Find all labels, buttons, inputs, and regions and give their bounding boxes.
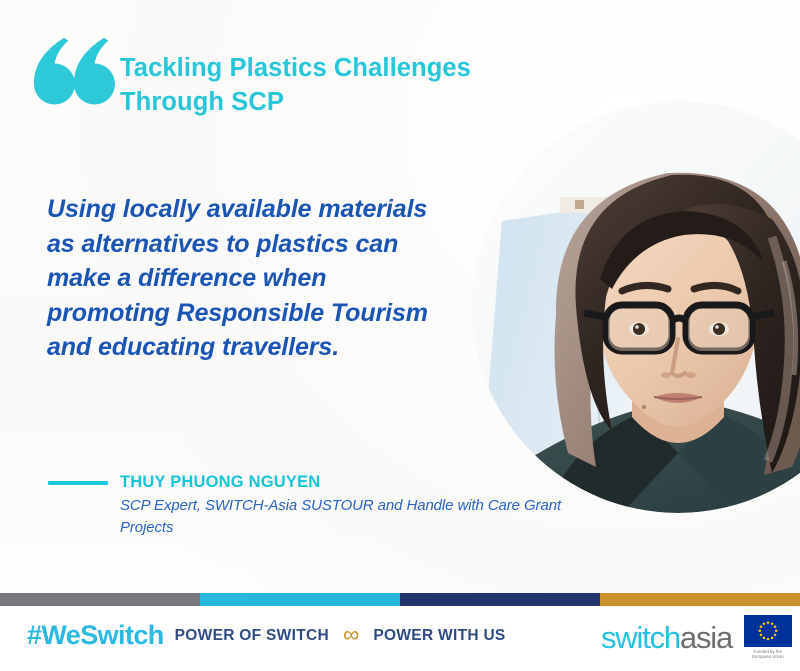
eu-caption-line-2: European Union xyxy=(744,654,792,659)
headline-line-1: Tackling Plastics Challenges xyxy=(120,54,471,82)
color-bar-segment-gray xyxy=(0,593,200,606)
eu-funding-caption: Funded by the European Union xyxy=(744,649,792,660)
footer-logos: switchasia xyxy=(601,615,792,660)
tagline-power-of-switch: POWER OF SWITCH xyxy=(175,627,329,645)
footer-campaign: #WeSwitch POWER OF SWITCH ∞ POWER WITH U… xyxy=(27,620,506,651)
headline-line-2: Through SCP xyxy=(120,86,540,120)
switchasia-logo: switchasia xyxy=(601,622,732,653)
avatar xyxy=(472,101,800,513)
switchasia-logo-switch: switch xyxy=(601,620,680,655)
page-title: Tackling Plastics Challenges Through SCP xyxy=(120,52,540,120)
color-bar xyxy=(0,593,800,606)
attribution-role: SCP Expert, SWITCH-Asia SUSTOUR and Hand… xyxy=(120,495,570,538)
footer: #WeSwitch POWER OF SWITCH ∞ POWER WITH U… xyxy=(0,606,800,671)
color-bar-segment-cyan xyxy=(200,593,400,606)
attribution-rule xyxy=(48,481,108,485)
quote-card: Tackling Plastics Challenges Through SCP… xyxy=(0,0,800,671)
switchasia-logo-asia: asia xyxy=(680,620,732,655)
weswitch-hashtag: #WeSwitch xyxy=(27,620,164,651)
tagline-power-with-us: POWER WITH US xyxy=(373,627,505,645)
infinity-icon: ∞ xyxy=(343,623,359,646)
eu-funding-badge: Funded by the European Union xyxy=(744,615,792,660)
quote-text: Using locally available materials as alt… xyxy=(47,192,447,365)
eu-flag-icon xyxy=(744,615,792,647)
quotation-mark-icon xyxy=(26,38,116,112)
attribution: THUY PHUONG NGUYEN SCP Expert, SWITCH-As… xyxy=(120,471,570,538)
color-bar-segment-navy xyxy=(400,593,600,606)
attribution-name: THUY PHUONG NGUYEN xyxy=(120,471,570,493)
color-bar-segment-gold xyxy=(600,593,800,606)
